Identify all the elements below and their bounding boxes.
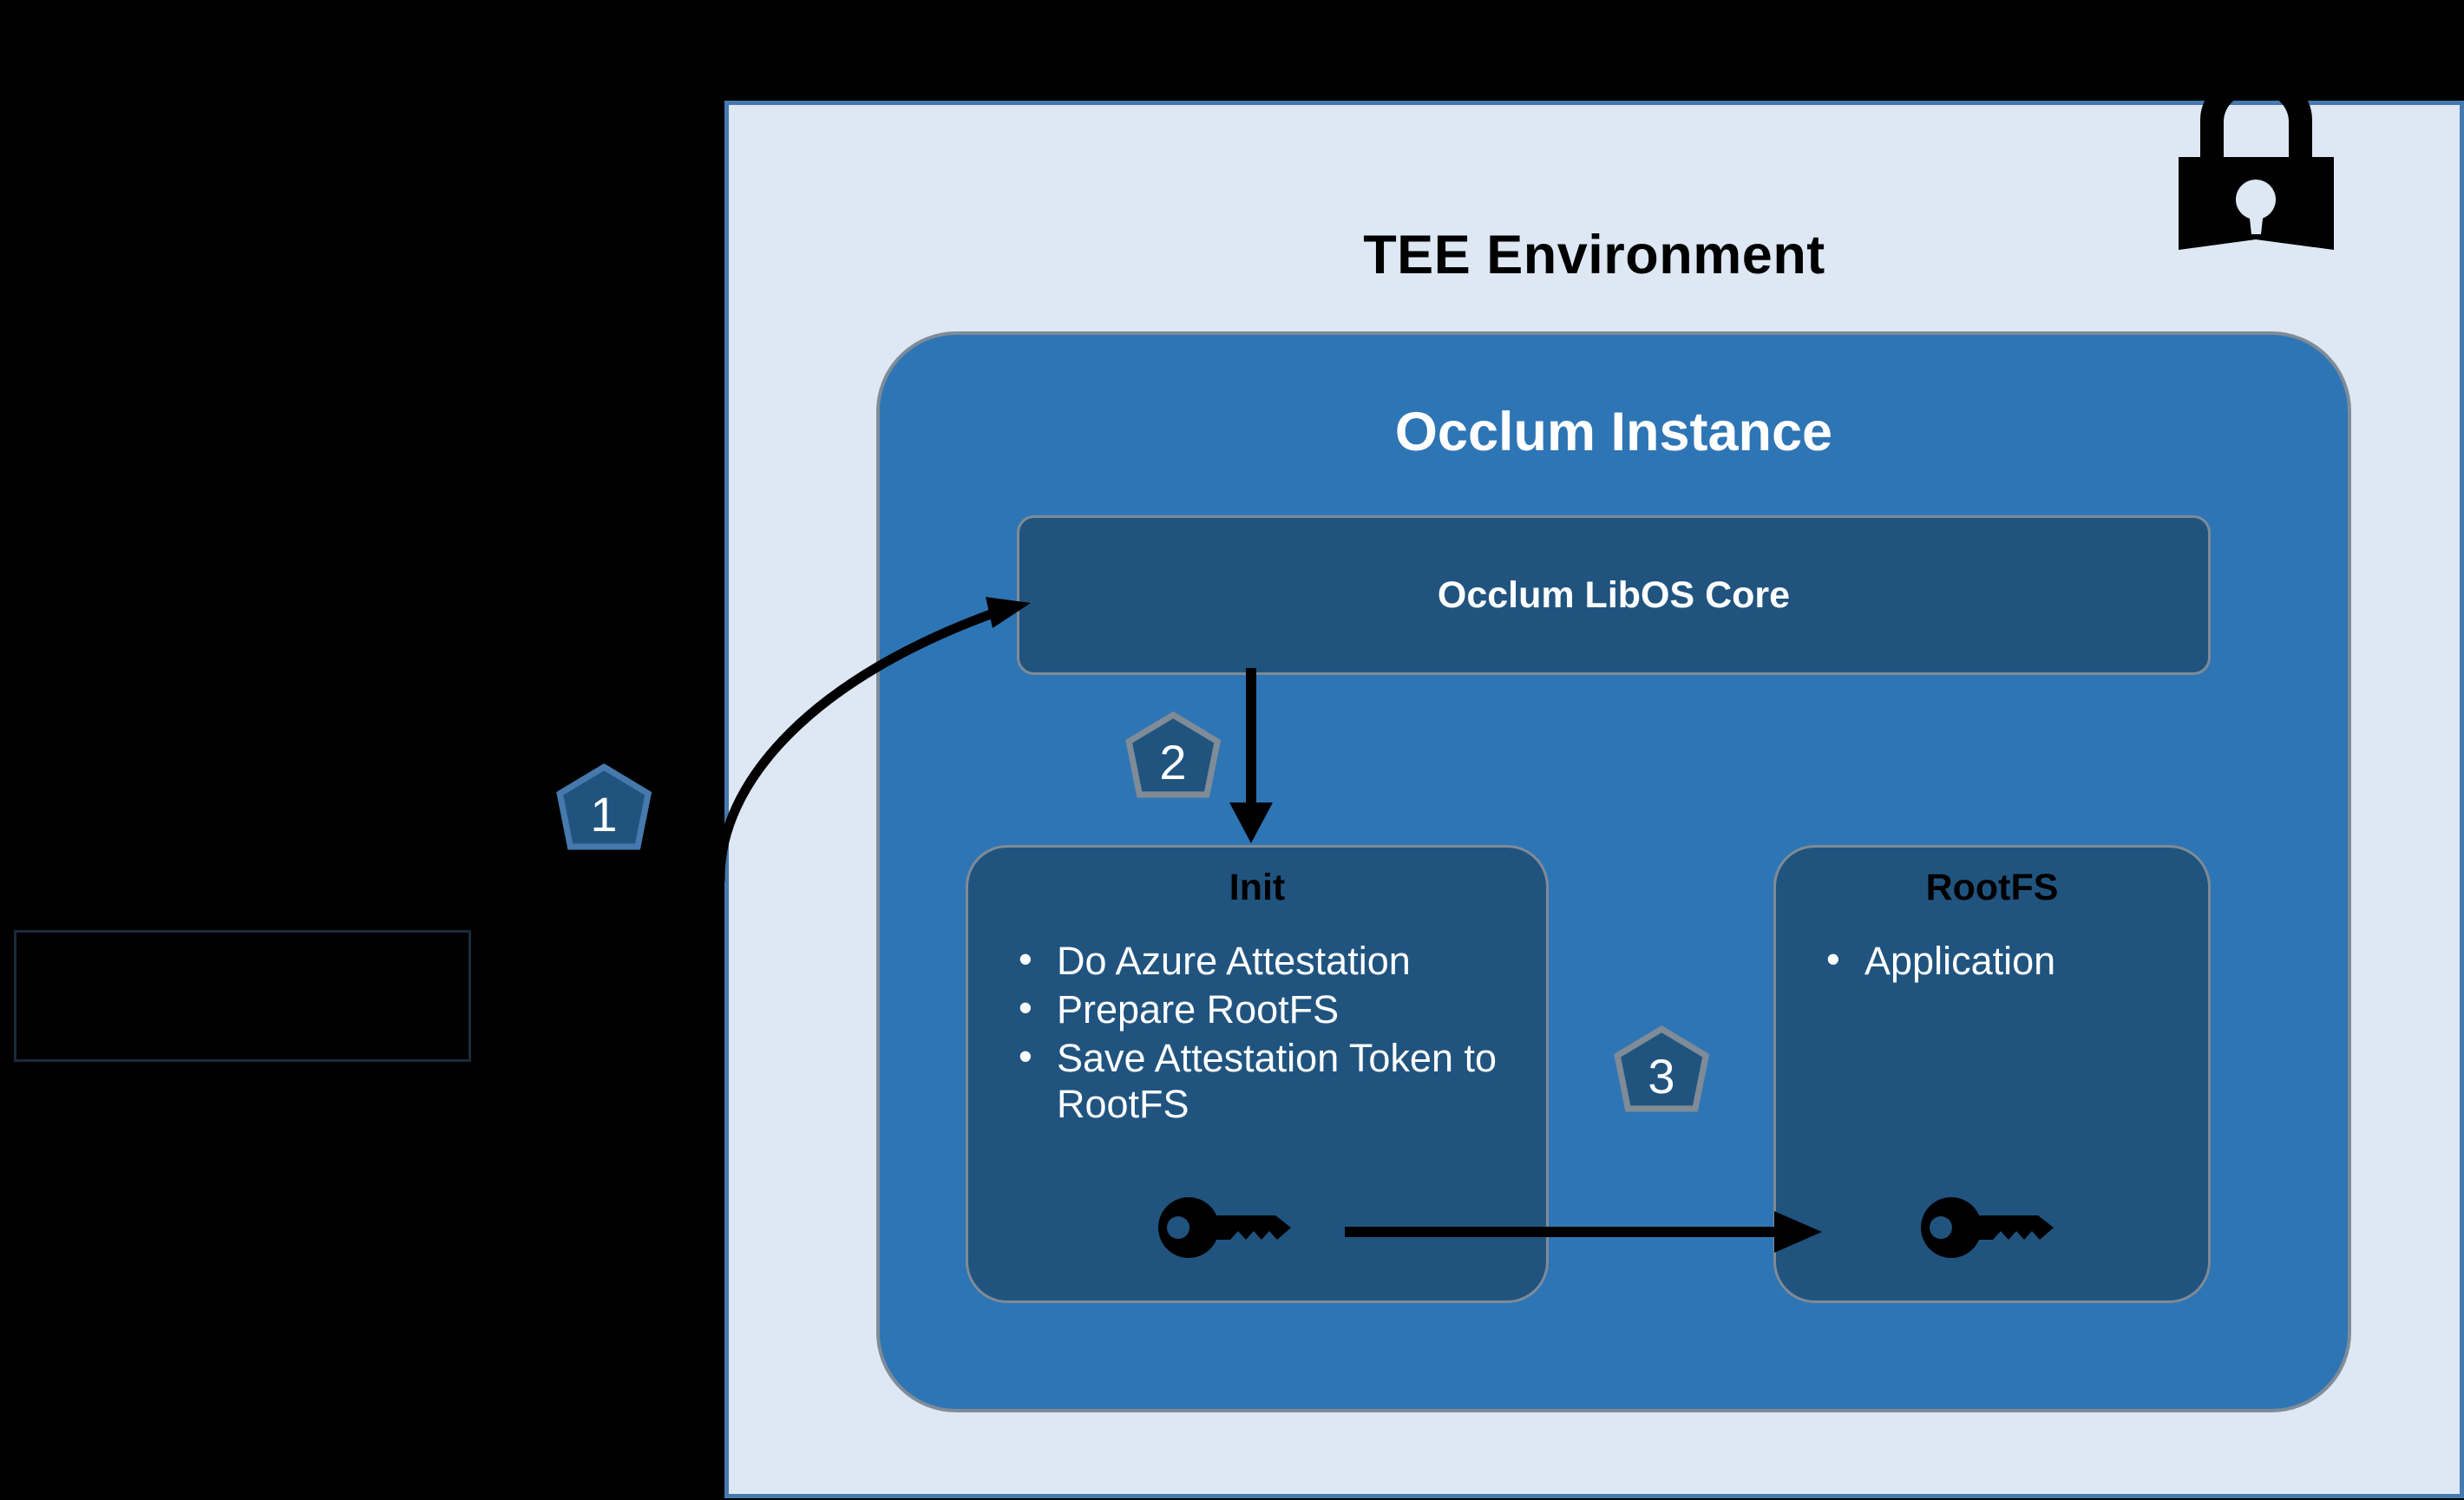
- list-item: Do Azure Attestation: [1003, 939, 1527, 984]
- step-badge-2-label: 2: [1121, 710, 1225, 809]
- init-bullet-list: Do Azure Attestation Prepare RootFS Save…: [1003, 939, 1527, 1130]
- diagram-canvas: TEE Environment Occlum Instance Occlum L…: [0, 0, 2464, 1500]
- list-item: Application: [1811, 939, 2189, 984]
- list-item: Prepare RootFS: [1003, 987, 1527, 1032]
- padlock-icon: [2167, 85, 2345, 254]
- occlum-libos-core-box: Occlum LibOS Core: [1017, 515, 2211, 675]
- list-item: Save Attestation Token to RootFS: [1003, 1036, 1527, 1126]
- empty-outline-box: [14, 930, 471, 1062]
- step-badge-2: 2: [1121, 710, 1225, 809]
- rootfs-bullet-list: Application: [1811, 939, 2189, 987]
- step-badge-3-label: 3: [1609, 1024, 1714, 1123]
- init-panel-title: Init: [968, 867, 1546, 909]
- key-icon-rootfs: [1917, 1193, 2064, 1262]
- step-badge-1-label: 1: [552, 762, 656, 861]
- step-badge-1: 1: [552, 762, 656, 861]
- key-icon-init: [1154, 1193, 1301, 1262]
- occlum-libos-core-title: Occlum LibOS Core: [1438, 574, 1790, 617]
- rootfs-panel-title: RootFS: [1776, 867, 2208, 909]
- step-badge-3: 3: [1609, 1024, 1714, 1123]
- occlum-instance-title: Occlum Instance: [880, 401, 2348, 463]
